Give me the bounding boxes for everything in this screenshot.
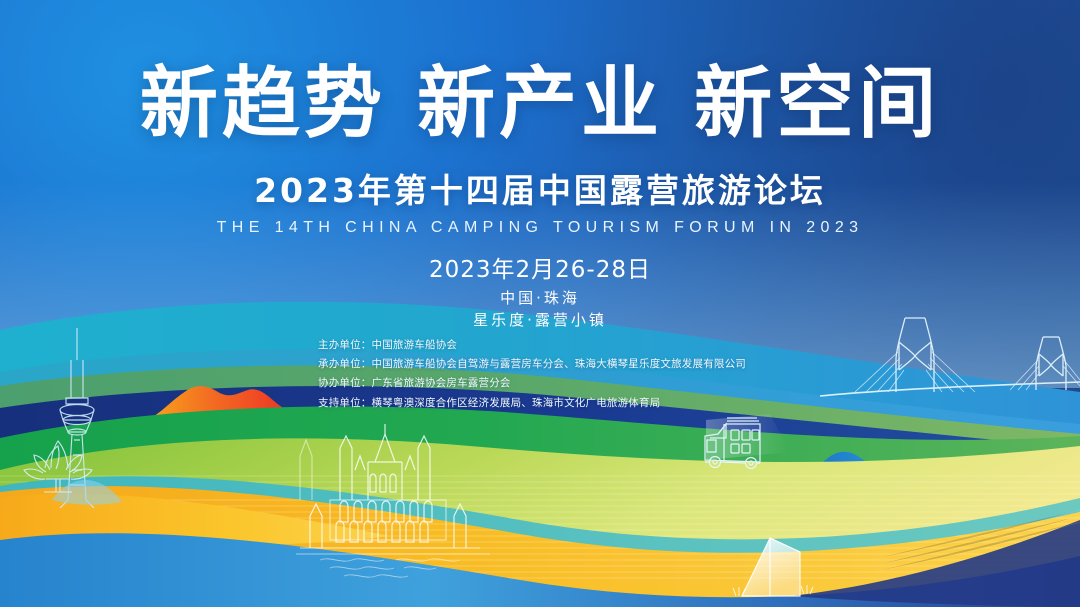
field-hatch-lines [0,476,1080,554]
poster-canvas: 新趋势 新产业 新空间 2023年第十四届中国露营旅游论坛 THE 14TH C… [0,0,1080,607]
macau-tower-base [52,480,122,505]
poster-text-block: 新趋势 新产业 新空间 2023年第十四届中国露营旅游论坛 THE 14TH C… [0,0,1080,328]
event-city: 中国·珠海 [0,291,1080,306]
tent-outline [742,538,800,596]
wave-band-teal-thin [0,476,1080,595]
blue-mountain [790,452,928,493]
bottom-hatch [870,510,1080,572]
wave-band-field [0,438,1080,607]
organizer-line-host: 主办单位：中国旅游车船协会 [318,338,746,353]
yellow-hatch-lines [0,500,1080,578]
event-meta: 2023年2月26-28日 中国·珠海 星乐度·露营小镇 [0,259,1080,328]
orange-mountain-right [960,477,1080,522]
wave-band-navy [0,386,1080,607]
camping-tent-icon [742,538,800,596]
lotus-sculpture-icon [24,441,92,492]
wave-band-yellow [0,486,1080,603]
tent-grass [733,585,813,596]
event-date: 2023年2月26-28日 [0,259,1080,282]
organizer-line-coorg: 协办单位：广东省旅游协会房车露营分会 [318,376,746,391]
hzmb-bridge-icon [820,318,1080,396]
rv-glow [706,414,790,460]
orange-red-mountain [152,386,298,417]
bottom-right-navy [790,520,1080,607]
wave-band-yellow-left [0,494,390,556]
forum-subtitle-cn: 2023年第十四届中国露营旅游论坛 [0,164,1080,212]
city-skyline-icon [300,440,312,500]
organizer-line-support: 支持单位：横琴粤澳深度合作区经济发展局、珠海市文化广电旅游体育局 [318,396,746,411]
forum-subtitle-en: THE 14TH CHINA CAMPING TOURISM FORUM IN … [0,219,1080,237]
wave-band-bottom-blue [0,533,1080,607]
event-venue: 星乐度·露营小镇 [0,313,1080,328]
rv-camper-icon [705,418,760,469]
page-title: 新趋势 新产业 新空间 [0,0,1080,150]
macau-tower-icon [60,328,94,508]
organizer-line-organizer: 承办单位：中国旅游车船协会自驾游与露营房车分会、珠海大横琴星乐度文旅发展有限公司 [318,357,746,372]
organizer-list: 主办单位：中国旅游车船协会 承办单位：中国旅游车船协会自驾游与露营房车分会、珠海… [318,338,746,415]
cathedral-silhouette-icon [296,424,490,577]
wave-band-green-bright [0,406,1080,607]
